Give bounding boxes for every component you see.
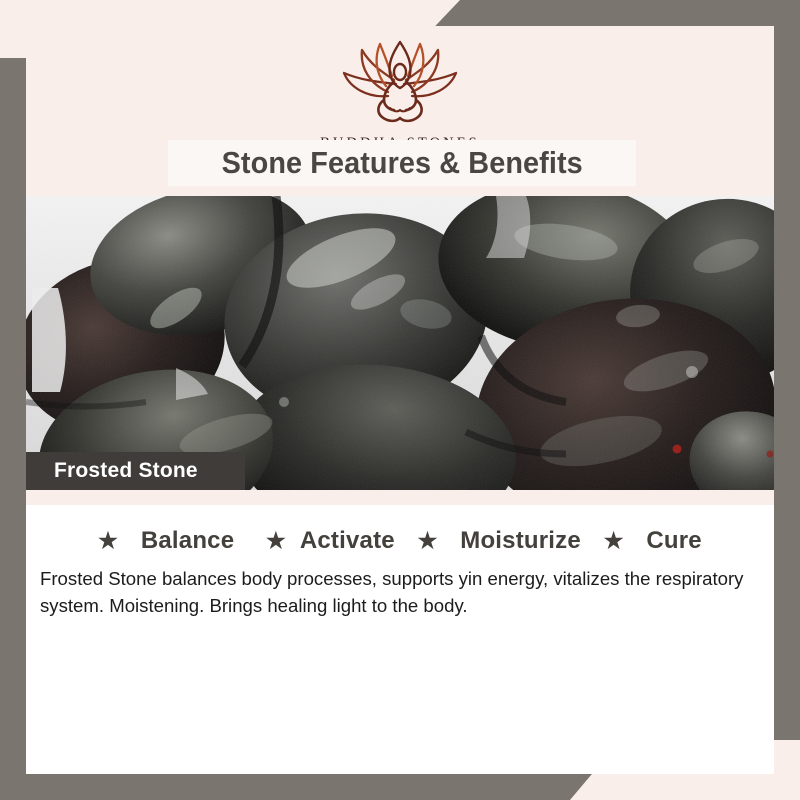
content-section: ★ Balance ★ Activate ★ Moisturize ★ Cure…	[26, 505, 774, 620]
benefit-label-balance: Balance	[141, 527, 234, 554]
benefit-label-activate: Activate	[300, 527, 395, 554]
page-title: Stone Features & Benefits	[221, 145, 582, 181]
status-badge: Frosted Stone	[26, 452, 245, 490]
title-banner: Stone Features & Benefits	[168, 140, 636, 186]
product-photo: Frosted Stone	[26, 196, 774, 490]
poster-card: BUDDHA STONES Stone Features & Benefits	[26, 26, 774, 774]
header-section: BUDDHA STONES Stone Features & Benefits	[26, 26, 774, 196]
benefits-list: ★ Balance ★ Activate ★ Moisturize ★ Cure	[26, 527, 774, 555]
poster-root: BUDDHA STONES Stone Features & Benefits	[0, 0, 800, 800]
star-icon: ★	[604, 528, 624, 553]
lotus-meditation-figure-icon	[26, 38, 774, 131]
brand-logo: BUDDHA STONES	[26, 38, 774, 152]
star-icon: ★	[266, 528, 286, 553]
status-badge-label: Frosted Stone	[26, 459, 198, 483]
description-text: Frosted Stone balances body processes, s…	[40, 566, 760, 620]
divider-strip	[26, 490, 774, 505]
star-icon: ★	[98, 528, 118, 553]
benefit-label-cure: Cure	[646, 527, 701, 554]
star-icon: ★	[418, 528, 438, 553]
benefit-label-moisturize: Moisturize	[460, 527, 581, 554]
